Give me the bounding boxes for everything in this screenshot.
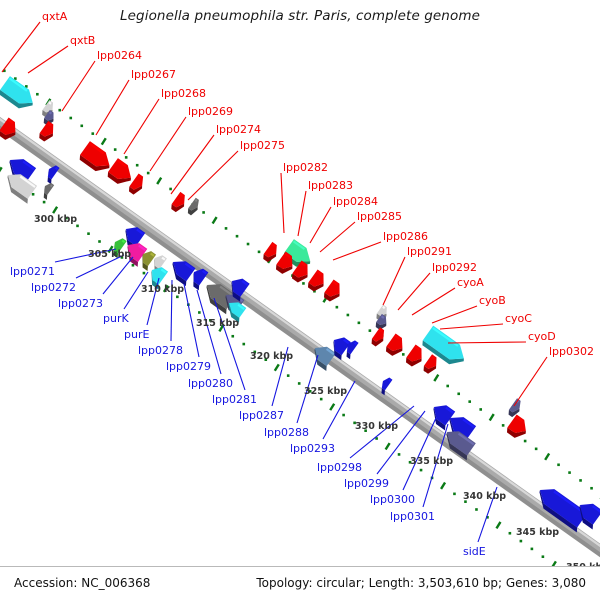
ruler-tick-label: 325 kbp [304, 387, 347, 397]
genome-map-canvas[interactable]: Legionella pneumophila str. Paris, compl… [0, 0, 600, 600]
gene-label-lpp0298[interactable]: lpp0298 [317, 462, 362, 473]
gene-label-lpp0292[interactable]: lpp0292 [432, 262, 477, 273]
gene-label-cyod[interactable]: cyoD [528, 331, 556, 342]
gene-label-lpp0271[interactable]: lpp0271 [10, 266, 55, 277]
gene-label-lpp0291[interactable]: lpp0291 [407, 246, 452, 257]
gene-label-lpp0285[interactable]: lpp0285 [357, 211, 402, 222]
gene-label-qxtb[interactable]: qxtB [70, 35, 95, 46]
ruler-tick-label: 320 kbp [250, 352, 293, 362]
gene-label-lpp0269[interactable]: lpp0269 [188, 106, 233, 117]
ruler-tick-label: 315 kbp [196, 319, 239, 329]
accession-label: Accession: NC_006368 [14, 576, 150, 590]
gene-label-lpp0274[interactable]: lpp0274 [216, 124, 261, 135]
gene-label-lpp0264[interactable]: lpp0264 [97, 50, 142, 61]
ruler-tick-label: 305 kbp [88, 250, 131, 260]
ruler-tick-label: 345 kbp [516, 528, 559, 538]
gene-label-lpp0275[interactable]: lpp0275 [240, 140, 285, 151]
gene-label-lpp0299[interactable]: lpp0299 [344, 478, 389, 489]
ruler-tick-label: 300 kbp [34, 215, 77, 225]
gene-label-cyoa[interactable]: cyoA [457, 277, 484, 288]
gene-label-lpp0288[interactable]: lpp0288 [264, 427, 309, 438]
gene-label-lpp0267[interactable]: lpp0267 [131, 69, 176, 80]
gene-label-lpp0280[interactable]: lpp0280 [188, 378, 233, 389]
gene-label-side[interactable]: sidE [463, 546, 486, 557]
gene-label-lpp0278[interactable]: lpp0278 [138, 345, 183, 356]
gene-label-lpp0287[interactable]: lpp0287 [239, 410, 284, 421]
gene-label-lpp0272[interactable]: lpp0272 [31, 282, 76, 293]
ruler-tick-label: 330 kbp [355, 422, 398, 432]
gene-label-lpp0273[interactable]: lpp0273 [58, 298, 103, 309]
genome-meta-label: Topology: circular; Length: 3,503,610 bp… [256, 576, 586, 590]
gene-label-pure[interactable]: purE [124, 329, 149, 340]
gene-label-lpp0300[interactable]: lpp0300 [370, 494, 415, 505]
gene-label-qxta[interactable]: qxtA [42, 11, 67, 22]
gene-label-purk[interactable]: purK [103, 313, 129, 324]
gene-label-lpp0281[interactable]: lpp0281 [212, 394, 257, 405]
gene-label-cyoc[interactable]: cyoC [505, 313, 532, 324]
gene-label-lpp0283[interactable]: lpp0283 [308, 180, 353, 191]
gene-label-lpp0293[interactable]: lpp0293 [290, 443, 335, 454]
gene-label-lpp0284[interactable]: lpp0284 [333, 196, 378, 207]
gene-label-lpp0301[interactable]: lpp0301 [390, 511, 435, 522]
status-bar: Accession: NC_006368 Topology: circular;… [0, 566, 600, 600]
gene-label-lpp0286[interactable]: lpp0286 [383, 231, 428, 242]
gene-label-lpp0282[interactable]: lpp0282 [283, 162, 328, 173]
gene-label-lpp0279[interactable]: lpp0279 [166, 361, 211, 372]
gene-label-cyob[interactable]: cyoB [479, 295, 506, 306]
ruler-tick-label: 340 kbp [463, 492, 506, 502]
ruler-tick-label: 335 kbp [410, 457, 453, 467]
ruler-tick-label: 310 kbp [141, 285, 184, 295]
gene-label-lpp0302[interactable]: lpp0302 [549, 346, 594, 357]
gene-label-lpp0268[interactable]: lpp0268 [161, 88, 206, 99]
